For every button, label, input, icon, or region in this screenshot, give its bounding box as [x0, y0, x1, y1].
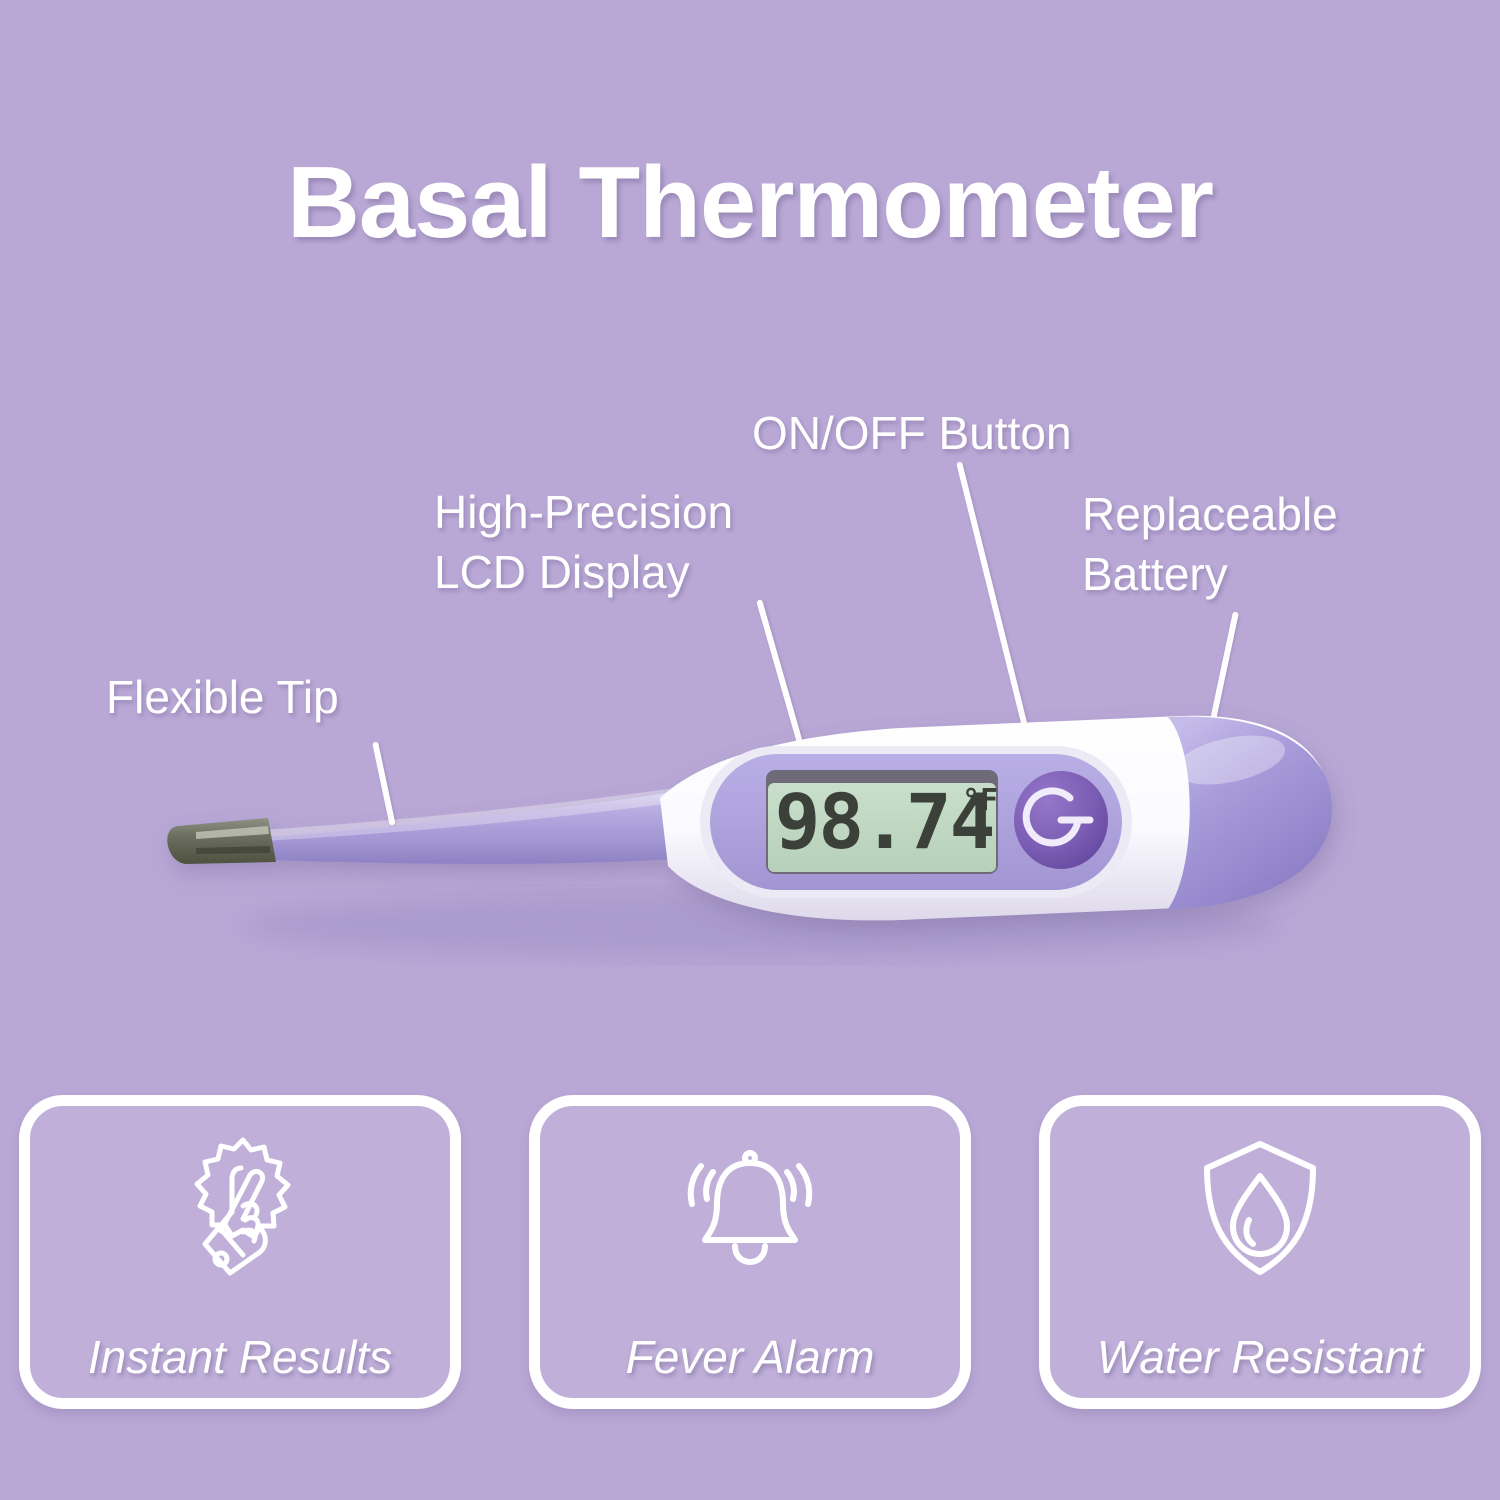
feature-card-water-resistant[interactable]: Water Resistant — [1039, 1095, 1481, 1409]
feature-label-instant-results: Instant Results — [30, 1330, 450, 1384]
thermometer-tip — [167, 818, 276, 864]
ringing-bell-icon — [665, 1128, 835, 1288]
feature-card-instant-results[interactable]: Instant Results — [19, 1095, 461, 1409]
hand-tap-burst-icon — [155, 1128, 325, 1288]
callout-label-battery: Replaceable Battery — [1082, 485, 1338, 605]
page-title: Basal Thermometer — [0, 150, 1500, 256]
infographic-canvas: Basal Thermometer Flexible Tip High-Prec… — [0, 0, 1500, 1500]
lcd-unit: °F — [962, 783, 998, 818]
power-button — [1014, 771, 1108, 869]
feature-card-fever-alarm[interactable]: Fever Alarm — [529, 1095, 971, 1409]
shield-droplet-icon — [1175, 1128, 1345, 1288]
thermometer-illustration: 98.74 °F — [0, 620, 1500, 1040]
feature-label-water-resistant: Water Resistant — [1050, 1330, 1470, 1384]
callout-label-lcd-display: High-Precision LCD Display — [434, 483, 733, 603]
feature-card-row: Instant Results Fever Alarm — [0, 1095, 1500, 1405]
feature-label-fever-alarm: Fever Alarm — [540, 1330, 960, 1384]
callout-label-onoff-button: ON/OFF Button — [752, 404, 1072, 464]
lcd-reading: 98.74 — [775, 777, 994, 866]
